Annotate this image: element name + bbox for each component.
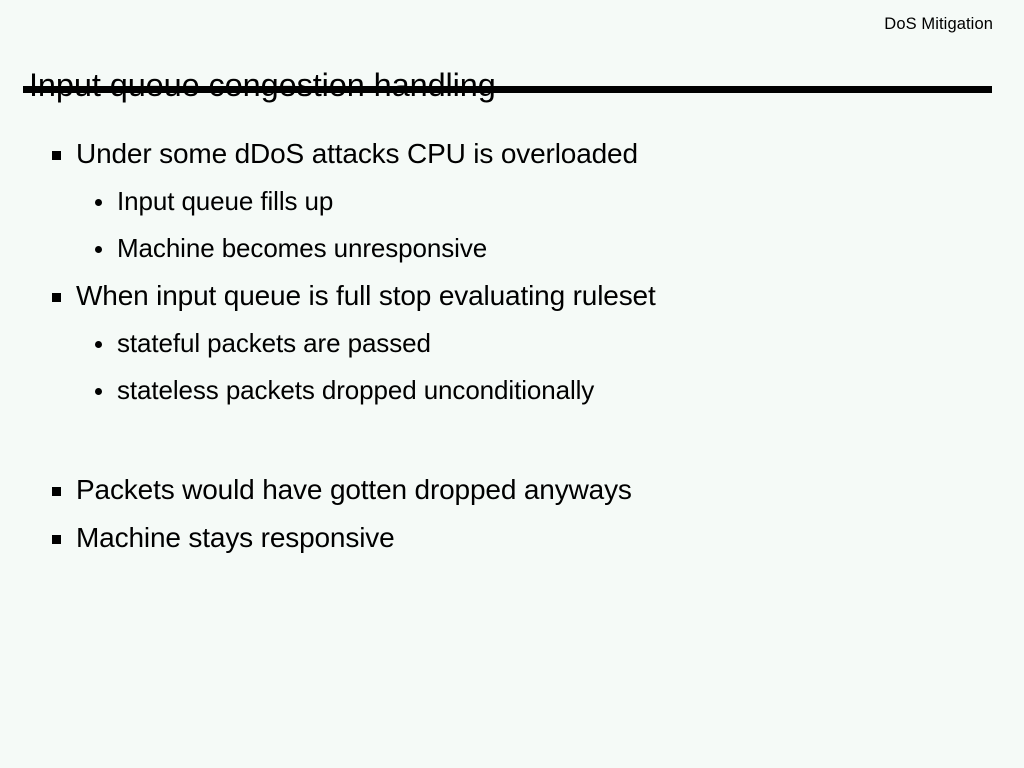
list-item-label: Input queue fills up — [117, 186, 333, 216]
list-item-label: When input queue is full stop evaluating… — [76, 280, 656, 311]
list-item: When input queue is full stop evaluating… — [0, 272, 1024, 320]
square-bullet-icon — [52, 487, 61, 496]
list-item-label: stateful packets are passed — [117, 328, 431, 358]
list-item-label: Packets would have gotten dropped anyway… — [76, 474, 632, 505]
round-bullet-icon — [95, 246, 102, 253]
list-item: Machine becomes unresponsive — [0, 225, 1024, 272]
slide: DoS Mitigation Input queue congestion ha… — [0, 0, 1024, 768]
list-spacer — [0, 414, 1024, 466]
round-bullet-icon — [95, 341, 102, 348]
bullet-list: Under some dDoS attacks CPU is overloade… — [0, 130, 1024, 562]
title-divider — [23, 86, 992, 93]
list-item: Packets would have gotten dropped anyway… — [0, 466, 1024, 514]
list-item: stateful packets are passed — [0, 320, 1024, 367]
list-item-label: Machine becomes unresponsive — [117, 233, 487, 263]
list-item-label: stateless packets dropped unconditionall… — [117, 375, 594, 405]
running-header: DoS Mitigation — [884, 14, 993, 34]
round-bullet-icon — [95, 199, 102, 206]
page-title: Input queue congestion handling — [29, 66, 496, 104]
list-item: Under some dDoS attacks CPU is overloade… — [0, 130, 1024, 178]
list-item: Machine stays responsive — [0, 514, 1024, 562]
list-item: stateless packets dropped unconditionall… — [0, 367, 1024, 414]
list-item: Input queue fills up — [0, 178, 1024, 225]
square-bullet-icon — [52, 151, 61, 160]
round-bullet-icon — [95, 388, 102, 395]
list-item-label: Under some dDoS attacks CPU is overloade… — [76, 138, 638, 169]
square-bullet-icon — [52, 293, 61, 302]
list-item-label: Machine stays responsive — [76, 522, 395, 553]
square-bullet-icon — [52, 535, 61, 544]
